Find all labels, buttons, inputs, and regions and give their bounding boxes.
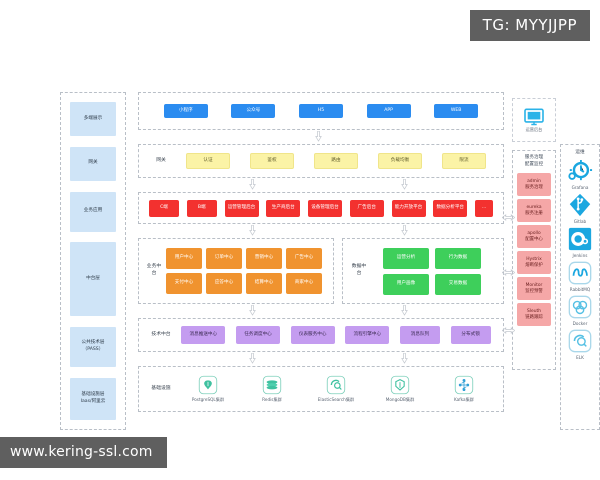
arrow-right-middle-to-governance — [502, 268, 515, 277]
layer-chip-business-application: 业务应用 — [70, 192, 116, 232]
bm-payment-center[interactable]: 支付中心 — [166, 273, 202, 294]
jenkins-icon — [567, 226, 593, 252]
devops-grafana[interactable]: Grafana — [561, 158, 599, 190]
arrow-down-business-to-middle-left — [248, 225, 257, 236]
arrow-down-terminals-to-gateway — [314, 131, 323, 142]
docker-icon — [567, 294, 593, 320]
gateway-routing[interactable]: 路由 — [314, 153, 358, 169]
governance-sub: 服务注册 — [525, 211, 543, 217]
band-terminals: 小程序 公众号 H5 APP WEB — [138, 92, 504, 130]
layer-label: 多端展示 — [84, 116, 102, 123]
app-c-side[interactable]: C端 — [149, 200, 179, 217]
devops-column: 运维 Grafana Gitlab Jenkins RabbitMQ — [560, 144, 600, 430]
devops-gitlab[interactable]: Gitlab — [561, 192, 599, 224]
band-label-gateway: 网关 — [146, 158, 176, 165]
rabbitmq-icon — [567, 260, 593, 286]
devops-jenkins[interactable]: Jenkins — [561, 226, 599, 258]
terminal-mini-program[interactable]: 小程序 — [164, 104, 208, 118]
bm-user-center[interactable]: 用户中心 — [166, 248, 202, 269]
redis-icon — [262, 375, 282, 395]
main-column: 小程序 公众号 H5 APP WEB 网关 认证 鉴权 路由 负载均衡 限流 — [138, 92, 504, 430]
bm-order-center[interactable]: 订单中心 — [206, 248, 242, 269]
tag-badge: TG: MYYJJPP — [470, 10, 590, 41]
devops-label: Grafana — [572, 185, 589, 190]
tm-message-queue[interactable]: 消息队列 — [400, 326, 440, 344]
arrow-right-tech-to-governance — [502, 326, 515, 335]
band-tech-middle-platform: 技术中台 消息推送中心 任务调度中心 仪表服务中心 流程引擎中心 消息队列 分布… — [138, 318, 504, 352]
band-label-data-middle: 数据中台 — [350, 264, 368, 278]
dm-user-profile[interactable]: 用户画像 — [383, 274, 429, 295]
governance-sub: 配置中心 — [525, 237, 543, 243]
dm-behavior-data[interactable]: 行为数据 — [435, 248, 481, 269]
governance-sub: 熔断保护 — [525, 263, 543, 269]
band-label-tech-middle: 技术中台 — [146, 332, 176, 339]
governance-sub: 链路跟踪 — [525, 315, 543, 321]
app-more[interactable]: … — [475, 200, 493, 217]
operations-backend-label: 运营后台 — [526, 127, 543, 133]
governance-sub: 服务治理 — [525, 185, 543, 191]
app-capability-platform[interactable]: 能力开放平台 — [392, 200, 426, 217]
gateway-auth[interactable]: 认证 — [186, 153, 230, 169]
gitlab-icon — [567, 192, 593, 218]
gateway-rate-limit[interactable]: 限流 — [442, 153, 486, 169]
arrow-down-middle-to-tech-right — [400, 305, 409, 316]
app-ad-admin[interactable]: 广告后台 — [350, 200, 384, 217]
devops-label: Gitlab — [574, 219, 586, 224]
grafana-icon — [567, 158, 593, 184]
watermark: www.kering-ssl.com — [0, 437, 167, 468]
operations-backend[interactable]: 运营后台 — [512, 98, 556, 142]
governance-sleuth[interactable]: Sleuth 链路跟踪 — [517, 303, 551, 326]
band-label-business-middle: 业务中台 — [146, 264, 162, 278]
band-gateway: 网关 认证 鉴权 路由 负载均衡 限流 — [138, 144, 504, 178]
infra-kafka[interactable]: Kafka集群 — [432, 375, 496, 403]
infra-label: MongoDB集群 — [386, 397, 415, 403]
arrow-down-tech-to-infra-left — [248, 353, 257, 364]
infra-label: ElasticSearch集群 — [318, 397, 354, 403]
tm-distributed-lock[interactable]: 分布式锁 — [451, 326, 491, 344]
devops-label: Jenkins — [573, 253, 588, 258]
elasticsearch-icon — [326, 375, 346, 395]
arrow-down-gateway-to-business-right — [400, 179, 409, 190]
layer-chip-middle-platform: 中台层 — [70, 242, 116, 316]
business-middle-items: 用户中心 订单中心 营销中心 广告中心 支付中心 应答中心 结算中心 商家中心 — [162, 248, 326, 294]
app-operations-admin[interactable]: 运营管理后台 — [225, 200, 259, 217]
tm-instrument-service-center[interactable]: 仪表服务中心 — [291, 326, 335, 344]
bm-settlement-center[interactable]: 结算中心 — [246, 273, 282, 294]
devops-label: RabbitMQ — [570, 287, 590, 292]
app-data-analysis-platform[interactable]: 数据分析平台 — [433, 200, 467, 217]
devops-label: ELK — [576, 355, 584, 360]
infra-label: Redis集群 — [262, 397, 282, 403]
infra-label: PostgreSQL集群 — [192, 397, 224, 403]
arrow-right-business-to-governance — [502, 213, 515, 222]
governance-admin[interactable]: admin 服务治理 — [517, 173, 551, 196]
bm-marketing-center[interactable]: 营销中心 — [246, 248, 282, 269]
app-device-admin[interactable]: 设备管理后台 — [308, 200, 342, 217]
devops-docker[interactable]: Docker — [561, 294, 599, 326]
gateway-items: 认证 鉴权 路由 负载均衡 限流 — [176, 153, 496, 169]
terminal-official-account[interactable]: 公众号 — [231, 104, 275, 118]
layer-label: 业务应用 — [84, 208, 102, 215]
arrow-down-business-to-middle-right — [400, 225, 409, 236]
governance-hystrix[interactable]: Hystrix 熔断保护 — [517, 251, 551, 274]
layer-chip-multi-terminal-display: 多端展示 — [70, 102, 116, 136]
elk-icon — [567, 328, 593, 354]
data-middle-items: 运营分析 行为数据 用户画像 交易数据 — [368, 248, 496, 295]
tm-task-scheduling-center[interactable]: 任务调度中心 — [236, 326, 280, 344]
tech-middle-items: 消息推送中心 任务调度中心 仪表服务中心 流程引擎中心 消息队列 分布式锁 — [176, 326, 496, 344]
terminal-app[interactable]: APP — [367, 104, 411, 118]
arrow-down-tech-to-infra-right — [400, 353, 409, 364]
architecture-diagram: 多端展示 网关 业务应用 中台层 公共技术层 （PASS） 基础设施层 Iaas… — [60, 92, 546, 430]
service-governance-column: 服务治理 配置监控 admin 服务治理 eureka 服务注册 apollo … — [512, 150, 556, 370]
app-b-side[interactable]: B端 — [187, 200, 217, 217]
band-business-apps: C端 B端 运营管理后台 生产商后台 设备管理后台 广告后台 能力开放平台 数据… — [138, 192, 504, 224]
governance-sub: 监控预警 — [525, 289, 543, 295]
infra-mongodb[interactable]: MongoDB集群 — [368, 375, 432, 403]
gateway-authorization[interactable]: 鉴权 — [250, 153, 294, 169]
infrastructure-items: PostgreSQL集群 Redis集群 ElasticSearch集群 — [176, 375, 496, 403]
arrow-down-gateway-to-business-left — [248, 179, 257, 190]
governance-eureka[interactable]: eureka 服务注册 — [517, 199, 551, 222]
bm-merchant-center[interactable]: 商家中心 — [286, 273, 322, 294]
band-data-middle-platform: 数据中台 运营分析 行为数据 用户画像 交易数据 — [342, 238, 504, 304]
devops-elk[interactable]: ELK — [561, 328, 599, 360]
governance-header: 服务治理 配置监控 — [525, 155, 543, 168]
layer-chip-public-technology: 公共技术层 （PASS） — [70, 327, 116, 367]
governance-apollo[interactable]: apollo 配置中心 — [517, 225, 551, 248]
infra-postgres[interactable]: PostgreSQL集群 — [176, 375, 240, 403]
terminal-items: 小程序 公众号 H5 APP WEB — [146, 104, 496, 118]
dm-operations-analysis[interactable]: 运营分析 — [383, 248, 429, 269]
monitor-icon — [523, 108, 545, 126]
layer-label: 基础设施层 Iaas/阿里云 — [81, 392, 106, 406]
terminal-h5[interactable]: H5 — [299, 104, 343, 118]
band-business-middle-platform: 业务中台 用户中心 订单中心 营销中心 广告中心 支付中心 应答中心 结算中心 … — [138, 238, 334, 304]
infra-label: Kafka集群 — [454, 397, 474, 403]
layer-chip-gateway: 网关 — [70, 147, 116, 181]
app-producer-admin[interactable]: 生产商后台 — [266, 200, 300, 217]
tm-message-push-center[interactable]: 消息推送中心 — [181, 326, 225, 344]
bm-response-center[interactable]: 应答中心 — [206, 273, 242, 294]
infra-redis[interactable]: Redis集群 — [240, 375, 304, 403]
band-label-infrastructure: 基础设施 — [146, 386, 176, 393]
layer-chip-infrastructure: 基础设施层 Iaas/阿里云 — [70, 378, 116, 420]
governance-monitor[interactable]: Monitor 监控预警 — [517, 277, 551, 300]
layer-label: 网关 — [88, 160, 97, 167]
terminal-web[interactable]: WEB — [434, 104, 478, 118]
gateway-load-balance[interactable]: 负载均衡 — [378, 153, 422, 169]
kafka-icon — [454, 375, 474, 395]
layer-column: 多端展示 网关 业务应用 中台层 公共技术层 （PASS） 基础设施层 Iaas… — [60, 92, 126, 430]
infra-elasticsearch[interactable]: ElasticSearch集群 — [304, 375, 368, 403]
business-app-items: C端 B端 运营管理后台 生产商后台 设备管理后台 广告后台 能力开放平台 数据… — [146, 200, 496, 217]
band-infrastructure: 基础设施 PostgreSQL集群 Redis集群 — [138, 366, 504, 412]
layer-label: 公共技术层 （PASS） — [82, 340, 105, 354]
tm-process-engine-center[interactable]: 流程引擎中心 — [345, 326, 389, 344]
mongodb-icon — [390, 375, 410, 395]
bm-ad-center[interactable]: 广告中心 — [286, 248, 322, 269]
devops-header: 运维 — [575, 149, 584, 155]
devops-rabbitmq[interactable]: RabbitMQ — [561, 260, 599, 292]
postgres-icon — [198, 375, 218, 395]
layer-label: 中台层 — [86, 276, 100, 283]
devops-label: Docker — [573, 321, 588, 326]
dm-transaction-data[interactable]: 交易数据 — [435, 274, 481, 295]
arrow-down-middle-to-tech-left — [248, 305, 257, 316]
